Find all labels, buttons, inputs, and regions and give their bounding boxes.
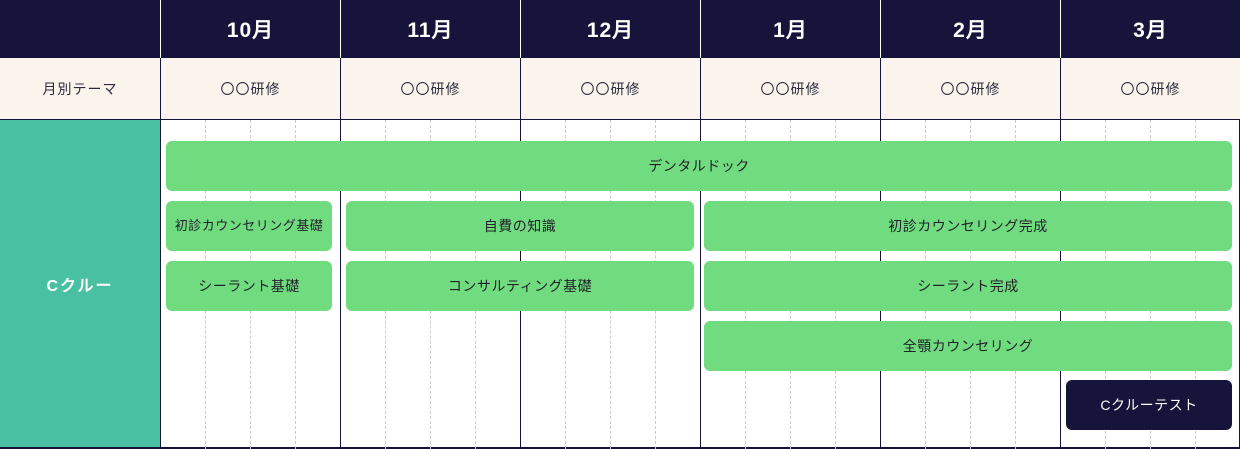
task-bar[interactable]: 初診カウンセリング完成 xyxy=(704,201,1232,251)
month-header-10: 10月 xyxy=(160,0,340,58)
task-bar[interactable]: コンサルティング基礎 xyxy=(346,261,694,311)
month-header-12: 12月 xyxy=(520,0,700,58)
month-header-11: 11月 xyxy=(340,0,520,58)
theme-cell-11: 〇〇研修 xyxy=(340,58,520,119)
task-bar[interactable]: デンタルドック xyxy=(166,141,1232,191)
monthly-theme-row: 月別テーマ 〇〇研修 〇〇研修 〇〇研修 〇〇研修 〇〇研修 〇〇研修 xyxy=(0,58,1240,120)
month-header-row: 10月 11月 12月 1月 2月 3月 xyxy=(0,0,1240,58)
task-bar[interactable]: シーラント基礎 xyxy=(166,261,332,311)
month-header-3: 3月 xyxy=(1060,0,1240,58)
schedule-body: Cクルー デンタルドック初診カウンセリング基礎自費の知識初診カウンセリング完成シ… xyxy=(0,120,1240,449)
theme-cell-10: 〇〇研修 xyxy=(160,58,340,119)
task-bar[interactable]: 自費の知識 xyxy=(346,201,694,251)
theme-cell-3: 〇〇研修 xyxy=(1060,58,1240,119)
task-bar[interactable]: 全顎カウンセリング xyxy=(704,321,1232,371)
month-header-2: 2月 xyxy=(880,0,1060,58)
task-bar[interactable]: シーラント完成 xyxy=(704,261,1232,311)
monthly-theme-label: 月別テーマ xyxy=(0,58,160,119)
task-bar[interactable]: Cクルーテスト xyxy=(1066,380,1232,430)
crew-label-cell: Cクルー xyxy=(0,120,160,449)
theme-cell-1: 〇〇研修 xyxy=(700,58,880,119)
theme-cell-2: 〇〇研修 xyxy=(880,58,1060,119)
task-bar[interactable]: 初診カウンセリング基礎 xyxy=(166,201,332,251)
header-corner-cell xyxy=(0,0,160,58)
training-schedule-gantt: 10月 11月 12月 1月 2月 3月 月別テーマ 〇〇研修 〇〇研修 〇〇研… xyxy=(0,0,1240,449)
theme-cell-12: 〇〇研修 xyxy=(520,58,700,119)
month-header-1: 1月 xyxy=(700,0,880,58)
